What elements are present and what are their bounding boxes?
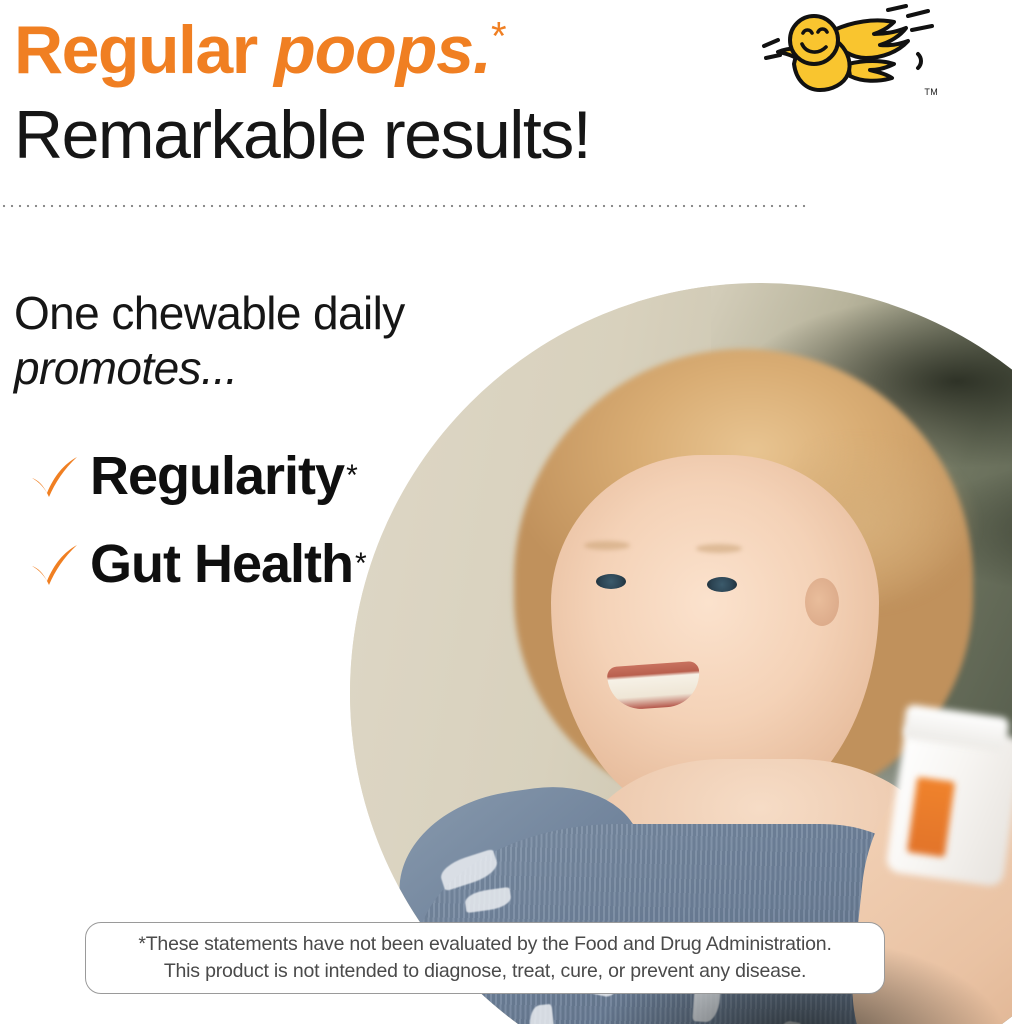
benefit-label: Gut Health: [90, 536, 353, 592]
disclaimer-box: *These statements have not been evaluate…: [85, 922, 885, 994]
benefit-label: Regularity: [90, 448, 344, 504]
check-icon: [28, 540, 80, 592]
trademark-symbol: TM: [924, 87, 938, 97]
disclaimer-line-2: This product is not intended to diagnose…: [164, 958, 806, 985]
headline-word-regular: Regular: [14, 12, 274, 88]
check-icon: [28, 452, 80, 504]
disclaimer-line-1: *These statements have not been evaluate…: [138, 931, 831, 958]
headline-asterisk: *: [491, 14, 507, 58]
benefits-list: Regularity* Gut Health*: [28, 432, 367, 608]
subhead-line-1: One chewable daily: [14, 285, 484, 341]
headline: Regular poops.* Remarkable results!: [14, 8, 774, 176]
brand-logo: TM: [748, 2, 948, 106]
product-ad-banner: Regular poops.* Remarkable results!: [0, 0, 1012, 1024]
headline-line-2: Remarkable results!: [14, 94, 774, 176]
benefit-item-gut-health: Gut Health*: [28, 520, 367, 608]
subhead: One chewable daily promotes...: [14, 285, 484, 395]
benefit-item-regularity: Regularity*: [28, 432, 367, 520]
subhead-line-2: promotes...: [14, 341, 484, 395]
headline-word-poops: poops.: [274, 12, 491, 88]
dotted-divider: [0, 204, 810, 208]
headline-line-1: Regular poops.*: [14, 8, 774, 92]
